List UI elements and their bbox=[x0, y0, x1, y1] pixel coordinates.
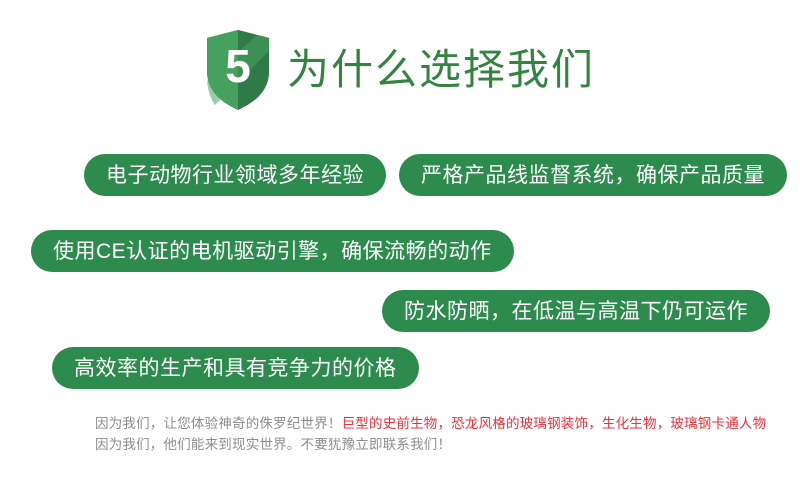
footer-line-1-prefix: 因为我们，让您体验神奇的侏罗纪世界！ bbox=[95, 416, 342, 431]
section-header: 5 为什么选择我们 bbox=[0, 24, 800, 116]
feature-pill-5: 高效率的生产和具有竞争力的价格 bbox=[52, 347, 419, 389]
feature-pill-3: 使用CE认证的电机驱动引擎，确保流畅的动作 bbox=[31, 230, 514, 272]
footer-line-1: 因为我们，让您体验神奇的侏罗纪世界！巨型的史前生物，恐龙风格的玻璃钢装饰，生化生… bbox=[95, 413, 755, 434]
badge-number: 5 bbox=[205, 29, 271, 103]
shield-badge: 5 bbox=[205, 29, 271, 111]
footer-line-2: 因为我们，他们能来到现实世界。不要犹豫立即联系我们！ bbox=[95, 434, 755, 455]
feature-list: 电子动物行业领域多年经验 严格产品线监督系统，确保产品质量 使用CE认证的电机驱… bbox=[0, 140, 800, 400]
feature-pill-2: 严格产品线监督系统，确保产品质量 bbox=[399, 154, 787, 196]
page-title: 为什么选择我们 bbox=[287, 49, 595, 91]
footer-line-1-highlight: 巨型的史前生物，恐龙风格的玻璃钢装饰，生化生物，玻璃钢卡通人物 bbox=[342, 416, 767, 431]
feature-pill-1: 电子动物行业领域多年经验 bbox=[84, 154, 386, 196]
feature-pill-4: 防水防晒，在低温与高温下仍可运作 bbox=[382, 290, 770, 332]
footer-text: 因为我们，让您体验神奇的侏罗纪世界！巨型的史前生物，恐龙风格的玻璃钢装饰，生化生… bbox=[95, 413, 755, 455]
